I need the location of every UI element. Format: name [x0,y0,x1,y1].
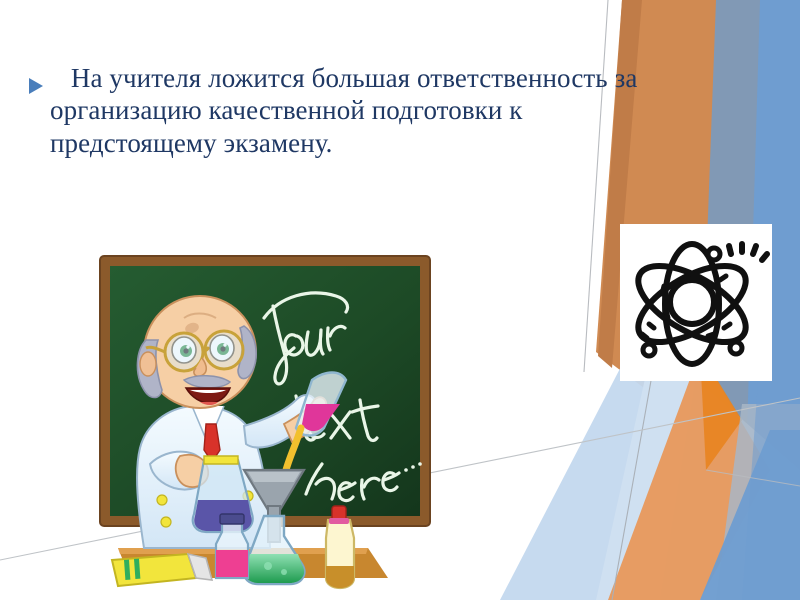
yellow-bottle-liquid [326,566,354,588]
atom-icon [620,224,772,381]
desk-green-flask-liquid [245,554,304,583]
shape-lower-blue-block [700,430,800,600]
pink-bottle-cap [220,514,244,524]
hairline-short-diagonal [706,470,800,486]
hairline-vertical-left [584,0,608,372]
desk-yellow-box [112,554,196,586]
shape-lower-orange-diagonal [608,352,770,600]
cartoon-scientist-illustration [88,248,438,594]
atom-icon-card [620,224,772,381]
body-text-block: На учителя ложится большая ответственнос… [22,62,662,159]
presentation-slide: На учителя ложится большая ответственнос… [0,0,800,600]
shape-lower-gray-overlay [716,404,800,600]
desk-pink-bottle-liquid [216,550,248,577]
triangle-right-bullet-icon [26,76,50,96]
bullet-paragraph: На учителя ложится большая ответственнос… [50,62,662,159]
